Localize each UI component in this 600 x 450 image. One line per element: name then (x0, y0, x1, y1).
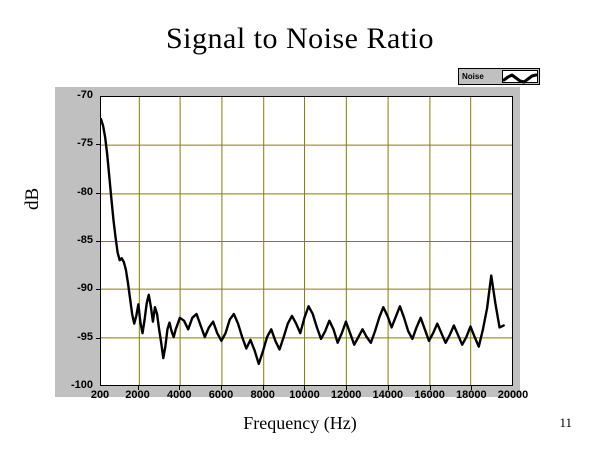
noise-trace (101, 97, 512, 385)
y-tick-label: -85 (53, 235, 93, 246)
x-tick-mark (179, 386, 180, 390)
y-axis-title: dB (22, 188, 44, 210)
y-tick-label: -90 (53, 283, 93, 294)
y-tick-mark (96, 241, 100, 242)
slide: Signal to Noise Ratio Noise -70-75-80-85… (0, 0, 600, 450)
page-number: 11 (559, 415, 572, 431)
x-tick-label: 2000 (125, 389, 149, 401)
x-tick-label: 6000 (209, 389, 233, 401)
x-tick-label: 10000 (289, 389, 320, 401)
x-tick-mark (263, 386, 264, 390)
x-tick-label: 20000 (498, 389, 529, 401)
x-tick-label: 12000 (331, 389, 362, 401)
y-tick-mark (96, 193, 100, 194)
y-tick-label: -70 (53, 90, 93, 101)
x-tick-mark (471, 386, 472, 390)
y-tick-label: -100 (53, 380, 93, 391)
y-tick-mark (96, 289, 100, 290)
x-tick-mark (221, 386, 222, 390)
waveform-icon (503, 73, 537, 84)
legend-label: Noise (459, 72, 484, 81)
y-tick-label: -80 (53, 187, 93, 198)
x-tick-mark (304, 386, 305, 390)
x-tick-mark (346, 386, 347, 390)
y-tick-mark (96, 338, 100, 339)
y-tick-label: -75 (53, 138, 93, 149)
x-tick-mark (388, 386, 389, 390)
y-tick-mark (96, 144, 100, 145)
legend-waveform-icon (502, 70, 538, 83)
x-tick-label: 16000 (414, 389, 445, 401)
x-tick-label: 14000 (373, 389, 404, 401)
x-axis-title: Frequency (Hz) (0, 413, 600, 434)
plot-area (100, 96, 513, 386)
y-tick-label: -95 (53, 332, 93, 343)
x-tick-label: 200 (91, 389, 109, 401)
x-tick-label: 4000 (167, 389, 191, 401)
chart-legend: Noise (458, 68, 540, 85)
chart-panel: -70-75-80-85-90-95-100 20020004000600080… (55, 87, 520, 397)
x-tick-mark (430, 386, 431, 390)
x-tick-label: 18000 (456, 389, 487, 401)
x-tick-label: 8000 (250, 389, 274, 401)
x-tick-mark (138, 386, 139, 390)
page-title: Signal to Noise Ratio (0, 22, 600, 56)
